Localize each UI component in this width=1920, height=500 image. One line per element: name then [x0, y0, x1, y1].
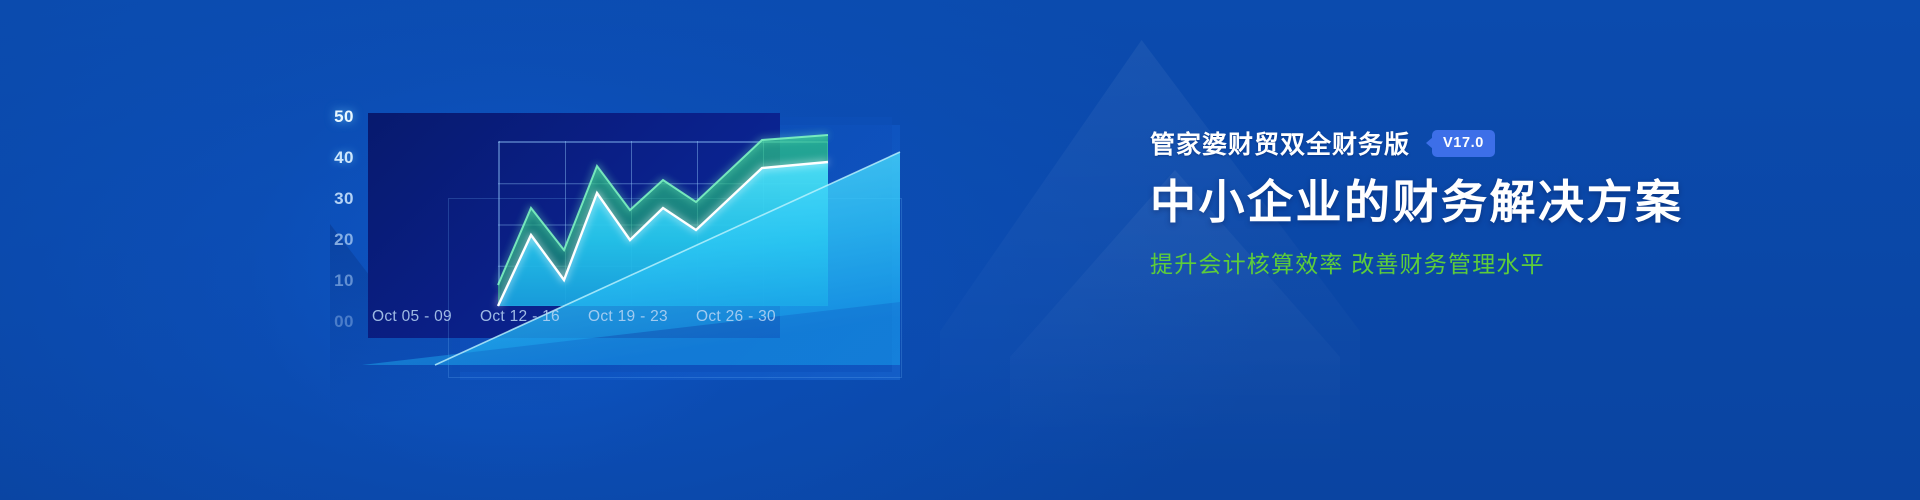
- chart-series-svg: [300, 80, 980, 400]
- promo-banner: 50 40 30 20 10 00 Oct 05 - 09 Oct 12 - 1…: [0, 0, 1920, 500]
- version-badge: V17.0: [1432, 130, 1495, 157]
- banner-copy: 管家婆财贸双全财务版 V17.0 中小企业的财务解决方案 提升会计核算效率 改善…: [1150, 125, 1850, 278]
- x-tick-label: Oct 26 - 30: [690, 308, 782, 326]
- y-tick-00: 00: [310, 301, 354, 342]
- chart-x-axis: Oct 05 - 09 Oct 12 - 16 Oct 19 - 23 Oct …: [366, 308, 926, 326]
- subheadline: 提升会计核算效率 改善财务管理水平: [1150, 251, 1850, 279]
- y-tick-30: 30: [310, 178, 354, 219]
- x-tick-label: Oct 12 - 16: [474, 308, 566, 326]
- x-tick-label: Oct 19 - 23: [582, 308, 674, 326]
- chart-illustration: 50 40 30 20 10 00 Oct 05 - 09 Oct 12 - 1…: [300, 80, 980, 400]
- y-tick-20: 20: [310, 219, 354, 260]
- headline: 中小企业的财务解决方案: [1150, 177, 1850, 229]
- chart-y-axis: 50 40 30 20 10 00: [310, 96, 354, 342]
- y-tick-40: 40: [310, 137, 354, 178]
- y-tick-10: 10: [310, 260, 354, 301]
- y-tick-50: 50: [310, 96, 354, 137]
- product-name: 管家婆财贸双全财务版: [1150, 125, 1410, 161]
- x-tick-label: Oct 05 - 09: [366, 308, 458, 326]
- brand-row: 管家婆财贸双全财务版 V17.0: [1150, 125, 1850, 161]
